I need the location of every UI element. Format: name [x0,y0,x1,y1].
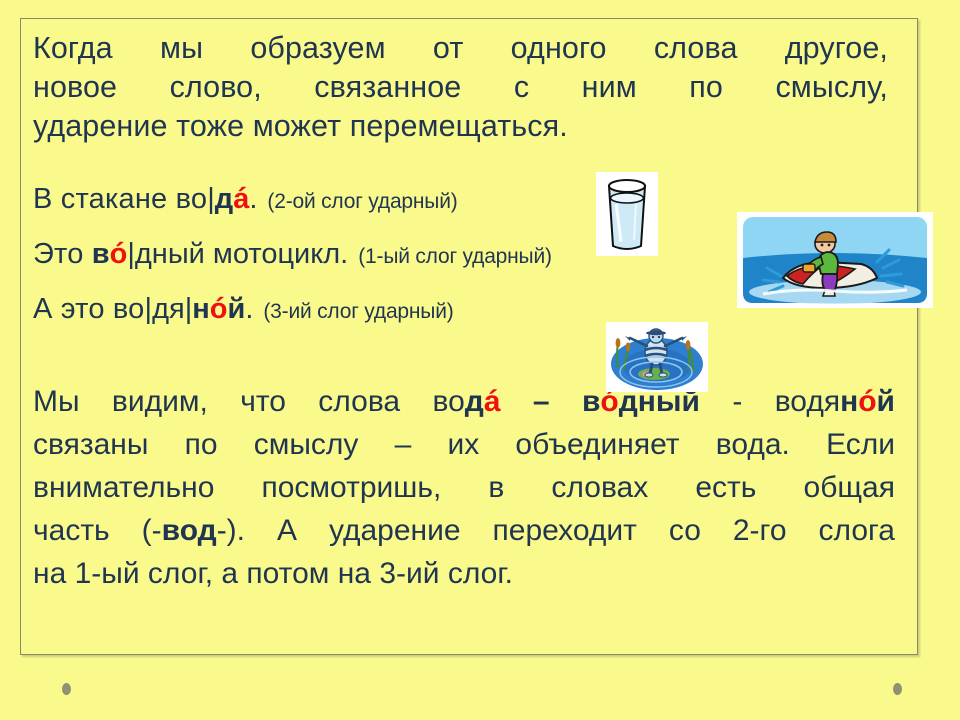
summary-1-b1: д [465,385,484,418]
syllable-bar-icon: | [145,293,153,325]
slide: Когда мы образуем от одного слова другое… [0,0,960,720]
summary-4-b: -). А ударение переходит со 2-го слога [217,514,895,547]
example-1-prefix: В стакане во [33,183,207,215]
intro-paragraph: Когда мы образуем от одного слова другое… [33,29,888,146]
summary-1-dash: – [501,385,582,418]
summary-line-5: на 1-ый слог, а потом на 3-ий слог. [33,552,895,595]
summary-1-b2: в [582,385,600,418]
example-3-bold-tail: й [227,293,245,325]
example-3-stressed-vowel: ó [210,293,228,325]
summary-1-hyphen: - [700,385,775,418]
syllable-bar-icon: | [207,183,215,215]
summary-1-c: водя [775,385,840,418]
vodyanoy-image [606,322,708,392]
decorative-dot-right [893,683,902,695]
example-3-suffix: . [245,293,253,325]
summary-paragraph: Мы видим, что слова водá – вóдный - водя… [33,380,895,595]
summary-root-vod: вод [162,514,217,547]
jet-ski-icon [737,212,933,308]
summary-stressed-vowel-3: ó [858,385,876,418]
example-1-note: (2-ой слог ударный) [267,190,457,213]
intro-line-1: Когда мы образуем от одного слова другое… [33,29,888,68]
summary-line-3: внимательно посмотришь, в словах есть об… [33,466,895,509]
text-column: Когда мы образуем от одного слова другое… [33,29,903,595]
vodyanoy-icon [606,322,708,392]
example-3-mid: дя [152,293,185,325]
example-2-prefix: Это [33,238,92,270]
example-1-suffix: . [249,183,257,215]
example-2-stressed-vowel: ó [110,238,128,270]
summary-line-4: часть (-вод-). А ударение переходит со 2… [33,509,895,552]
content-frame: Когда мы образуем от одного слова другое… [20,18,918,655]
syllable-bar-icon: | [127,238,135,270]
glass-of-water-image [596,172,658,256]
example-3-bold: н [192,293,210,325]
example-1-bold: д [215,183,233,215]
summary-stressed-vowel-1: á [484,385,501,418]
example-3-note: (3-ий слог ударный) [263,300,453,323]
jet-ski-image [737,212,933,308]
summary-4-a: часть (- [33,514,162,547]
example-2-suffix: дный мотоцикл. [135,238,348,270]
summary-1-b5: й [877,385,895,418]
example-2-note: (1-ый слог ударный) [358,245,552,268]
intro-line-3: ударение тоже может перемещаться. [33,107,888,146]
example-2-bold: в [92,238,110,270]
summary-line-2: связаны по смыслу – их объединяет вода. … [33,423,895,466]
summary-line-1: Мы видим, что слова водá – вóдный - водя… [33,380,895,423]
decorative-dot-left [62,683,71,695]
glass-of-water-icon [596,172,658,256]
example-3-prefix: А это во [33,293,145,325]
example-1-stressed-vowel: á [233,183,249,215]
summary-1-b4: н [840,385,858,418]
summary-1-a: Мы видим, что слова во [33,385,465,418]
intro-line-2: новое слово, связанное с ним по смыслу, [33,68,888,107]
